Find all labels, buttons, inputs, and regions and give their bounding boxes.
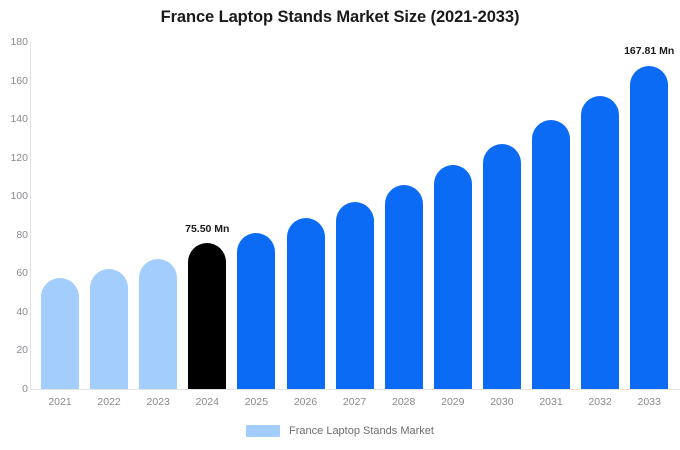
- bar-2033[interactable]: [630, 66, 668, 390]
- x-axis-tick-label: 2021: [41, 396, 79, 408]
- x-axis-tick-label: 2024: [188, 396, 226, 408]
- bar-2030[interactable]: [483, 144, 521, 389]
- bar-2023[interactable]: [139, 259, 177, 389]
- x-axis-tick-label: 2033: [630, 396, 668, 408]
- x-axis-tick-label: 2027: [336, 396, 374, 408]
- legend-label[interactable]: France Laptop Stands Market: [289, 425, 434, 437]
- bar-2025[interactable]: [237, 233, 275, 389]
- x-axis-tick-label: 2030: [483, 396, 521, 408]
- chart-legend: France Laptop Stands Market: [0, 425, 680, 437]
- bar-2032[interactable]: [581, 96, 619, 389]
- x-axis-tick-label: 2032: [581, 396, 619, 408]
- bar-chart: France Laptop Stands Market Size (2021-2…: [0, 0, 680, 450]
- bar-2027[interactable]: [336, 202, 374, 389]
- bar-2028[interactable]: [385, 185, 423, 389]
- x-axis-tick-label: 2029: [434, 396, 472, 408]
- x-axis-tick-label: 2022: [90, 396, 128, 408]
- bar-2024[interactable]: [188, 243, 226, 389]
- x-axis-tick-label: 2031: [532, 396, 570, 408]
- x-axis-tick-label: 2028: [385, 396, 423, 408]
- x-axis-tick-label: 2025: [237, 396, 275, 408]
- bars-layer: 202120222023202475.50 Mn2025202620272028…: [0, 0, 680, 450]
- legend-swatch: [246, 425, 280, 437]
- bar-2026[interactable]: [287, 218, 325, 389]
- x-axis-tick-label: 2026: [287, 396, 325, 408]
- x-axis-tick-label: 2023: [139, 396, 177, 408]
- bar-2021[interactable]: [41, 278, 79, 389]
- bar-2022[interactable]: [90, 269, 128, 389]
- bar-value-label-2033: 167.81 Mn: [624, 45, 674, 57]
- bar-2031[interactable]: [532, 120, 570, 389]
- bar-2029[interactable]: [434, 165, 472, 389]
- bar-value-label-2024: 75.50 Mn: [185, 223, 229, 235]
